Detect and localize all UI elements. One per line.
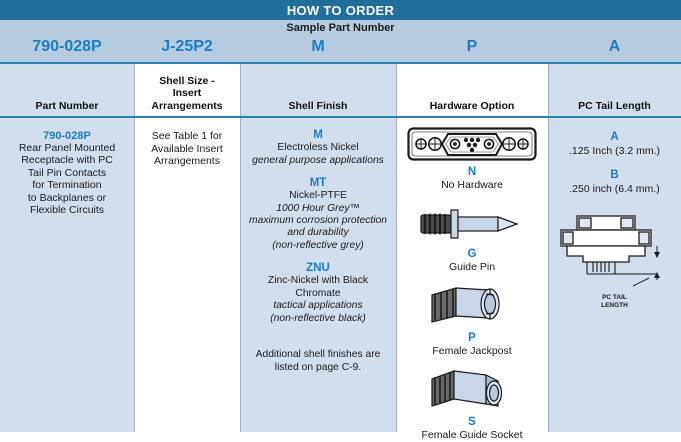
cell-part-number: 790-028P Rear Panel Mounted Receptacle w… (0, 118, 134, 432)
column-divider (396, 118, 397, 432)
shell-finish-footnote: listed on page C-9. (240, 362, 396, 375)
shell-finish-note: (non-reflective grey) (240, 240, 396, 252)
column-header-shell-size-l3: Arrangements (151, 100, 222, 113)
hardware-label-p: Female Jackpost (396, 345, 548, 358)
shell-finish-code: M (240, 128, 396, 142)
shell-finish-option-mt: MT Nickel-PTFE 1000 Hour Grey™ maximum c… (240, 176, 396, 252)
part-number-desc-line: Flexible Circuits (0, 204, 134, 216)
shell-finish-name: Electroless Nickel (240, 142, 396, 155)
shell-finish-name: Chromate (240, 288, 396, 301)
column-divider (396, 64, 397, 116)
column-header-shell-size-l2: Insert (151, 87, 222, 100)
column-divider (548, 118, 549, 432)
shell-finish-option-m: M Electroless Nickel general purpose app… (240, 128, 396, 167)
column-divider (240, 118, 241, 432)
pc-tail-code-a: A (548, 130, 681, 145)
hardware-code-g: G (396, 247, 548, 261)
hardware-label-s: Female Guide Socket (396, 429, 548, 442)
column-header-shell-finish: Shell Finish (240, 64, 396, 116)
shell-finish-code: ZNU (240, 261, 396, 275)
part-number-desc-line: Receptacle with PC (0, 154, 134, 166)
page-title: HOW TO ORDER (287, 3, 394, 18)
column-divider (548, 64, 549, 116)
guide-pin-icon (396, 204, 548, 244)
d-sub-connector-front-icon (396, 126, 548, 162)
cell-shell-size: See Table 1 for Available Insert Arrange… (134, 118, 240, 432)
shell-size-line: Available Insert (134, 143, 240, 156)
female-guide-socket-icon (396, 366, 548, 412)
sample-code-row: 790-028P J-25P2 M P A (0, 35, 681, 61)
column-divider (240, 64, 241, 116)
sample-code-hardware: P (396, 35, 548, 59)
part-number-desc-line: Rear Panel Mounted (0, 142, 134, 154)
column-header-shell-size-l1: Shell Size - (151, 75, 222, 88)
cell-hardware-option: N No Hardware (396, 118, 548, 432)
part-number-desc-line: Tail Pin Contacts (0, 167, 134, 179)
column-divider (134, 118, 135, 432)
shell-finish-name: Nickel-PTFE (240, 190, 396, 203)
shell-finish-note: maximum corrosion protection (240, 215, 396, 227)
sample-part-number-label: Sample Part Number (0, 20, 681, 34)
hardware-code-s: S (396, 415, 548, 429)
shell-size-line: Arrangements (134, 155, 240, 168)
pc-tail-value-a: .125 Inch (3.2 mm.) (548, 145, 681, 158)
shell-finish-code: MT (240, 176, 396, 190)
shell-finish-note: tactical applications (240, 300, 396, 312)
column-header-shell-size: Shell Size - Insert Arrangements (134, 64, 240, 116)
hardware-code-n: N (396, 165, 548, 179)
pc-tail-value-b: .250 inch (6.4 mm.) (548, 183, 681, 196)
part-number-code: 790-028P (0, 130, 134, 142)
column-header-pc-tail-length: PC Tail Length (548, 64, 681, 116)
pc-tail-diagram-icon (548, 212, 681, 304)
table-body: 790-028P Rear Panel Mounted Receptacle w… (0, 118, 681, 432)
column-header-row: Part Number Shell Size - Insert Arrangem… (0, 64, 681, 118)
part-number-desc-line: to Backplanes or (0, 192, 134, 204)
cell-pc-tail-length: A .125 Inch (3.2 mm.) B .250 inch (6.4 m… (548, 118, 681, 432)
hardware-code-p: P (396, 331, 548, 345)
sample-code-shell-finish: M (240, 35, 396, 59)
hardware-label-n: No Hardware (396, 179, 548, 192)
column-divider (134, 64, 135, 116)
part-number-desc-line: for Termination (0, 179, 134, 191)
sample-part-number-band: Sample Part Number 790-028P J-25P2 M P A (0, 20, 681, 64)
shell-finish-footnote: Additional shell finishes are (240, 349, 396, 362)
cell-shell-finish: M Electroless Nickel general purpose app… (240, 118, 396, 432)
shell-finish-note: general purpose applications (240, 155, 396, 167)
pc-tail-code-b: B (548, 168, 681, 183)
shell-size-line: See Table 1 for (134, 130, 240, 143)
shell-finish-note: and durability (240, 227, 396, 239)
hardware-label-g: Guide Pin (396, 261, 548, 274)
sample-code-shell-size: J-25P2 (134, 35, 240, 59)
column-header-part-number: Part Number (0, 64, 134, 116)
shell-finish-name: Zinc-Nickel with Black (240, 275, 396, 288)
shell-finish-note: 1000 Hour Grey™ (240, 203, 396, 215)
how-to-order-table: HOW TO ORDER Sample Part Number 790-028P… (0, 0, 681, 430)
column-header-hardware-option: Hardware Option (396, 64, 548, 116)
shell-finish-option-znu: ZNU Zinc-Nickel with Black Chromate tact… (240, 261, 396, 325)
sample-code-part-number: 790-028P (0, 35, 134, 59)
female-jackpost-icon (396, 282, 548, 328)
sample-code-pc-tail: A (548, 35, 681, 59)
shell-finish-note: (non-reflective black) (240, 313, 396, 325)
table-title-bar: HOW TO ORDER (0, 0, 681, 20)
